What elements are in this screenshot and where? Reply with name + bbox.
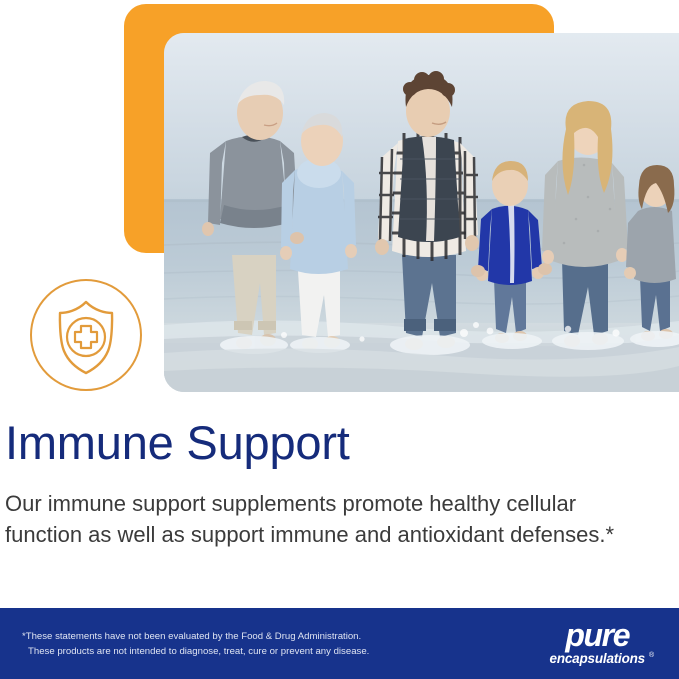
- page-description: Our immune support supplements promote h…: [5, 488, 615, 550]
- immune-support-banner: Immune Support Our immune support supple…: [0, 0, 679, 679]
- logo-wordmark: pure: [550, 620, 645, 650]
- shield-cross-icon: [28, 277, 144, 393]
- disclaimer-line-2: These products are not intended to diagn…: [22, 644, 369, 659]
- pure-encapsulations-logo[interactable]: pure encapsulations ®: [550, 620, 645, 668]
- logo-tagline: encapsulations ®: [550, 651, 645, 667]
- registered-trademark-icon: ®: [649, 648, 654, 664]
- logo-tagline-text: encapsulations: [550, 651, 645, 666]
- hero-photo: [164, 33, 679, 392]
- footer-bar: *These statements have not been evaluate…: [0, 608, 679, 679]
- disclaimer-line-1: *These statements have not been evaluate…: [22, 631, 361, 642]
- content-block: Immune Support Our immune support supple…: [5, 414, 665, 550]
- page-title: Immune Support: [5, 414, 665, 472]
- fda-disclaimer: *These statements have not been evaluate…: [0, 629, 369, 659]
- hero-section: [0, 0, 679, 400]
